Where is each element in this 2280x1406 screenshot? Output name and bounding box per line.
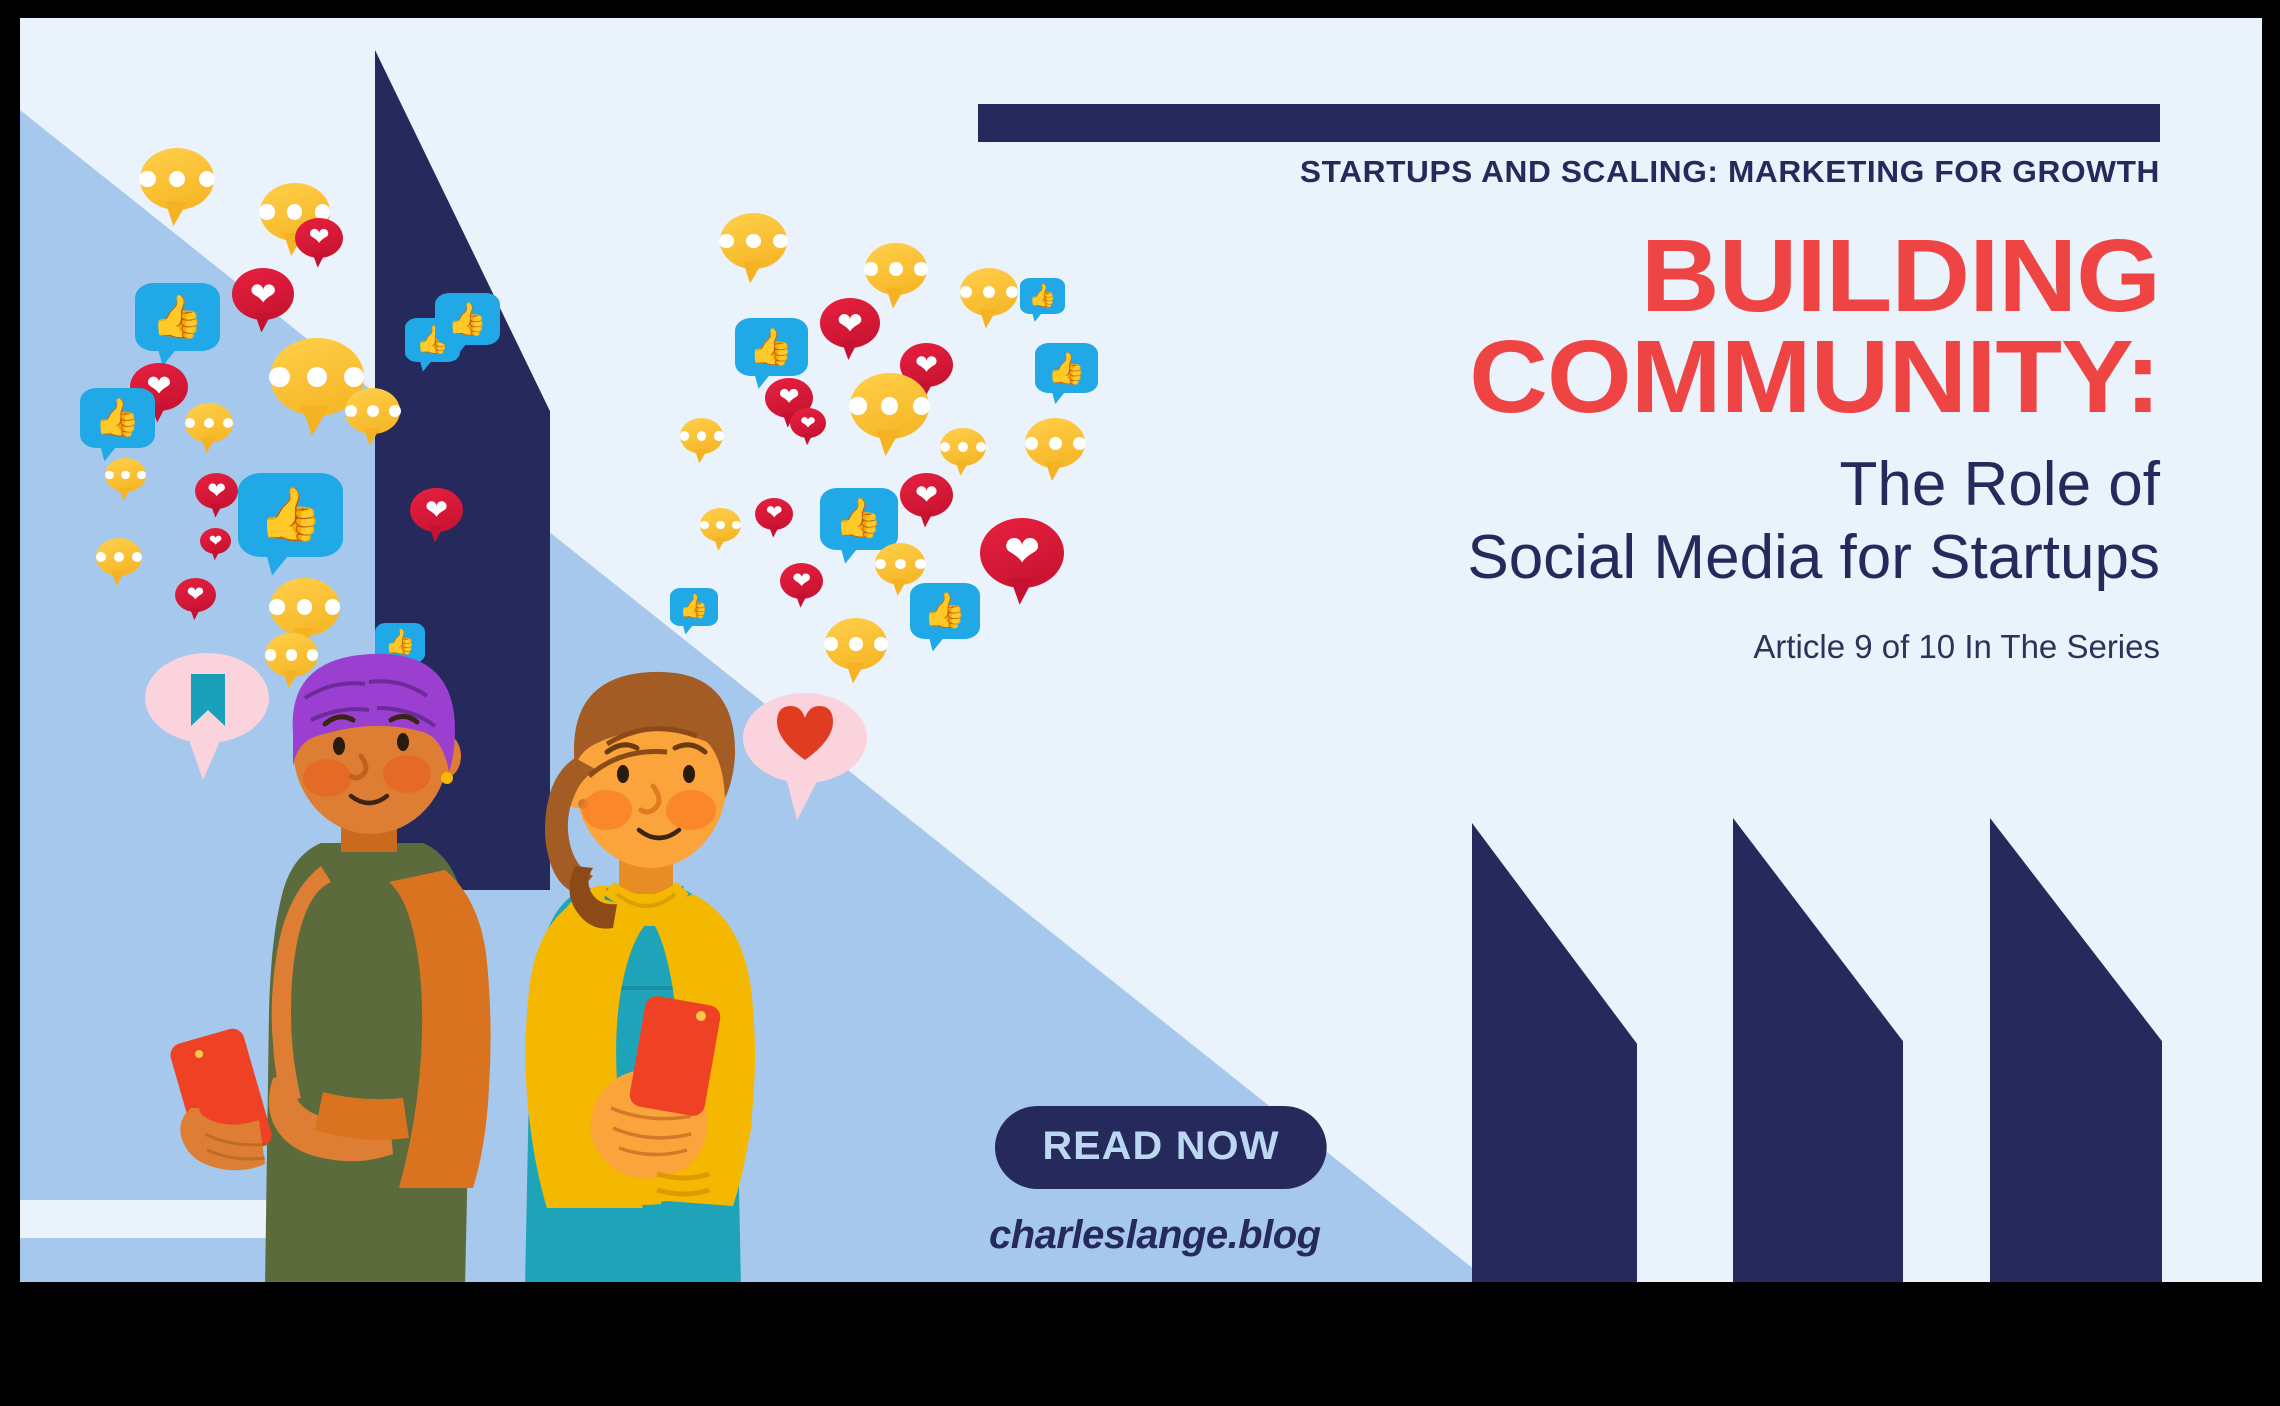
building-shape-right-1 [1472,823,1637,1282]
main-title-line-1: BUILDING [899,226,2160,327]
heart-bubble-icon: ❤ [175,578,216,612]
series-note: Article 9 of 10 In The Series [970,628,2160,666]
navy-accent-bar [978,104,2160,142]
people-illustration [145,638,955,1282]
like-bubble-icon: 👍 [435,293,500,345]
main-title: BUILDING COMMUNITY: [899,226,2160,428]
heart-bubble-icon: ❤ [780,563,823,599]
heart-bubble-icon: ❤ [790,408,826,438]
comment-bubble-icon [105,458,146,492]
like-bubble-icon: 👍 [820,488,898,550]
like-bubble-icon: 👍 [670,588,718,626]
website-url[interactable]: charleslange.blog [989,1213,1321,1258]
subtitle-line-1: The Role of [970,448,2160,521]
heart-bubble-icon: ❤ [200,528,231,554]
comment-bubble-icon [680,418,723,454]
heart-bubble-icon: ❤ [232,268,294,320]
comment-bubble-icon [875,543,925,585]
like-bubble-icon: 👍 [238,473,343,557]
heart-bubble-icon: ❤ [755,498,793,530]
comment-bubble-icon [185,403,233,443]
screenshot-frame: 👍❤👍❤👍❤👍❤👍❤❤👍❤👍❤👍❤👍❤❤❤👍❤❤❤👍👍 [0,0,2280,1406]
main-title-line-2: COMMUNITY: [899,327,2160,428]
heart-bubble-icon: ❤ [820,298,880,348]
heart-bubble-icon: ❤ [295,218,343,258]
subtitle: The Role of Social Media for Startups [970,448,2160,594]
comment-bubble-icon [140,148,214,210]
social-media-poster: 👍❤👍❤👍❤👍❤👍❤❤👍❤👍❤👍❤👍❤❤❤👍❤❤❤👍👍 [20,18,2262,1282]
comment-bubble-icon [345,388,400,434]
heart-bubble-icon: ❤ [195,473,238,509]
building-shape-right-3 [1990,818,2162,1282]
heart-bubble-icon: ❤ [410,488,463,532]
comment-bubble-icon [700,508,741,542]
cta-block: READ NOW charleslange.blog [995,1106,1321,1258]
read-now-button[interactable]: READ NOW [995,1106,1327,1189]
building-shape-right-2 [1733,818,1903,1282]
subtitle-line-2: Social Media for Startups [970,521,2160,594]
series-eyebrow: STARTUPS AND SCALING: MARKETING FOR GROW… [946,154,2160,190]
speech-bubble-heart [743,693,867,820]
like-bubble-icon: 👍 [735,318,808,376]
comment-bubble-icon [720,213,787,269]
like-bubble-icon: 👍 [80,388,155,448]
comment-bubble-icon [96,538,142,576]
like-bubble-icon: 👍 [135,283,220,351]
comment-bubble-icon [270,578,340,636]
heart-bubble-icon: ❤ [900,473,953,517]
speech-bubble-bookmark [145,653,269,780]
headline-block: STARTUPS AND SCALING: MARKETING FOR GROW… [970,104,2160,666]
